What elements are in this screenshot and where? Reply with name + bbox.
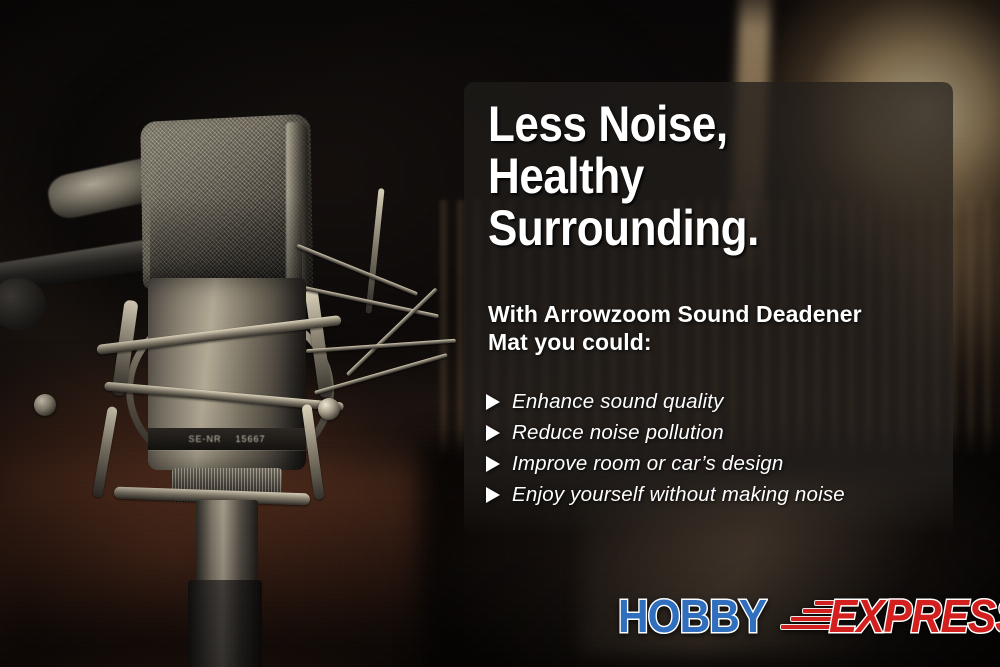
logo-text-hobby: HOBBY	[618, 593, 766, 639]
brand-logo[interactable]: HOBBY EXPRESS	[618, 588, 1000, 644]
play-triangle-icon	[486, 456, 500, 472]
list-item: Improve room or car’s design	[486, 448, 946, 479]
list-item-label: Improve room or car’s design	[512, 452, 783, 476]
banner-content: Less Noise, Healthy Surrounding. With Ar…	[464, 82, 953, 537]
list-item-label: Enjoy yourself without making noise	[512, 483, 845, 507]
benefits-list: Enhance sound quality Reduce noise pollu…	[486, 386, 946, 510]
list-item: Reduce noise pollution	[486, 417, 946, 448]
promo-banner: SE-NR 15667 Less Noise, Healthy Surround…	[0, 0, 1000, 667]
list-item: Enhance sound quality	[486, 386, 946, 417]
list-item-label: Enhance sound quality	[512, 390, 724, 414]
logo-text-express: EXPRESS	[829, 593, 1000, 639]
headline: Less Noise, Healthy Surrounding.	[488, 98, 875, 254]
play-triangle-icon	[486, 487, 500, 503]
play-triangle-icon	[486, 425, 500, 441]
subheading: With Arrowzoom Sound Deadener Mat you co…	[488, 300, 938, 356]
play-triangle-icon	[486, 394, 500, 410]
list-item: Enjoy yourself without making noise	[486, 479, 946, 510]
list-item-label: Reduce noise pollution	[512, 421, 724, 445]
